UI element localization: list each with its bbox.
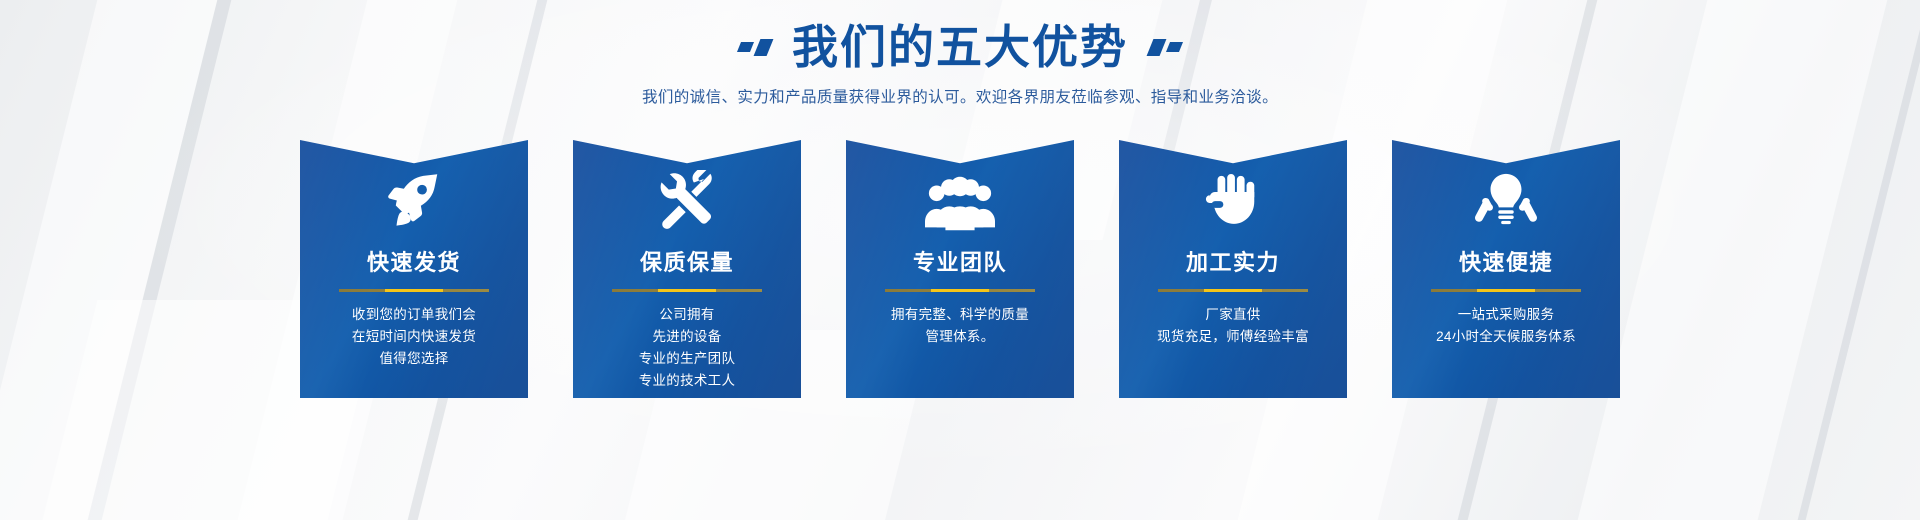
advantage-card-list: 快速发货 收到您的订单我们会 在短时间内快速发货 值得您选择 保质保量 公司拥	[300, 140, 1620, 398]
card-title: 专业团队	[846, 250, 1074, 276]
lightbulb-hands-icon	[1392, 140, 1620, 236]
card-divider	[612, 289, 762, 292]
card-title: 快速便捷	[1392, 250, 1620, 276]
advantage-card-fast-shipping[interactable]: 快速发货 收到您的订单我们会 在短时间内快速发货 值得您选择	[300, 140, 528, 398]
card-desc-line: 管理体系。	[860, 326, 1060, 348]
card-description: 公司拥有 先进的设备 专业的生产团队 专业的技术工人	[573, 304, 801, 392]
card-desc-line: 收到您的订单我们会	[314, 304, 514, 326]
card-divider	[885, 289, 1035, 292]
card-desc-line: 一站式采购服务	[1406, 304, 1606, 326]
rocket-icon	[300, 140, 528, 236]
card-desc-line: 值得您选择	[314, 348, 514, 370]
advantage-card-quality-guarantee[interactable]: 保质保量 公司拥有 先进的设备 专业的生产团队 专业的技术工人	[573, 140, 801, 398]
decoration-left-icon	[739, 27, 770, 67]
advantages-banner: 我们的五大优势 我们的诚信、实力和产品质量获得业界的认可。欢迎各界朋友莅临参观、…	[0, 0, 1920, 520]
card-desc-line: 24小时全天候服务体系	[1406, 326, 1606, 348]
card-divider	[1431, 289, 1581, 292]
card-desc-line: 现货充足，师傅经验丰富	[1133, 326, 1333, 348]
card-desc-line: 专业的生产团队	[587, 348, 787, 370]
card-title: 快速发货	[300, 250, 528, 276]
card-desc-line: 专业的技术工人	[587, 370, 787, 392]
wrench-screwdriver-icon	[573, 140, 801, 236]
card-desc-line: 公司拥有	[587, 304, 787, 326]
banner-header: 我们的五大优势 我们的诚信、实力和产品质量获得业界的认可。欢迎各界朋友莅临参观、…	[0, 0, 1920, 107]
card-desc-line: 先进的设备	[587, 326, 787, 348]
decoration-right-icon	[1150, 27, 1181, 67]
card-description: 厂家直供 现货充足，师傅经验丰富	[1119, 304, 1347, 348]
advantage-card-fast-convenient[interactable]: 快速便捷 一站式采购服务 24小时全天候服务体系	[1392, 140, 1620, 398]
advantage-card-processing-strength[interactable]: 加工实力 厂家直供 现货充足，师傅经验丰富	[1119, 140, 1347, 398]
advantage-card-professional-team[interactable]: 专业团队 拥有完整、科学的质量 管理体系。	[846, 140, 1074, 398]
team-people-icon	[846, 140, 1074, 236]
page-title: 我们的五大优势	[792, 19, 1128, 75]
card-description: 收到您的订单我们会 在短时间内快速发货 值得您选择	[300, 304, 528, 370]
card-desc-line: 在短时间内快速发货	[314, 326, 514, 348]
card-description: 一站式采购服务 24小时全天候服务体系	[1392, 304, 1620, 348]
card-title: 加工实力	[1119, 250, 1347, 276]
page-subtitle: 我们的诚信、实力和产品质量获得业界的认可。欢迎各界朋友莅临参观、指导和业务洽谈。	[0, 85, 1920, 107]
card-divider	[1158, 289, 1308, 292]
card-desc-line: 厂家直供	[1133, 304, 1333, 326]
fist-strength-icon	[1119, 140, 1347, 236]
card-title: 保质保量	[573, 250, 801, 276]
card-divider	[339, 289, 489, 292]
card-description: 拥有完整、科学的质量 管理体系。	[846, 304, 1074, 348]
card-desc-line: 拥有完整、科学的质量	[860, 304, 1060, 326]
